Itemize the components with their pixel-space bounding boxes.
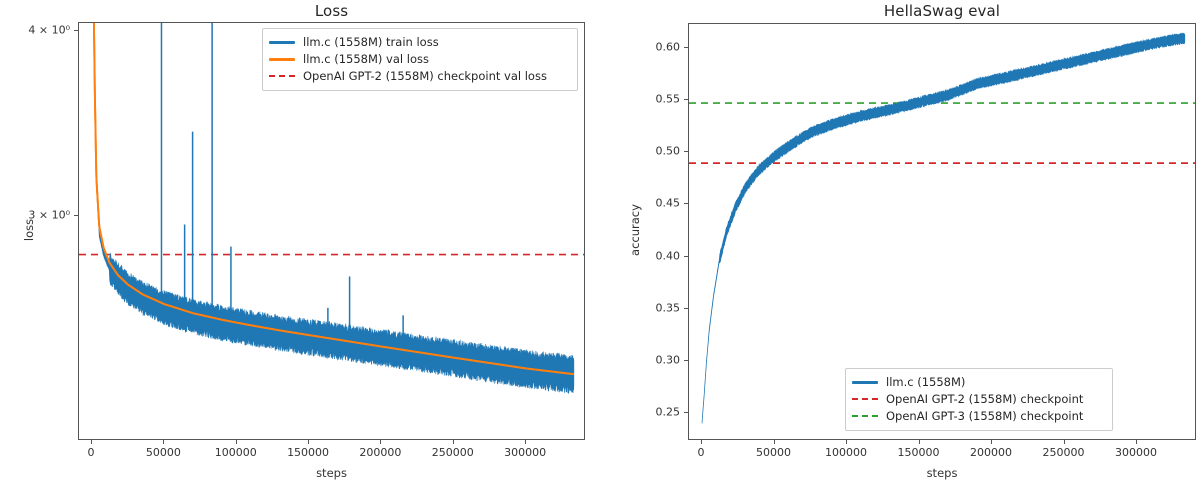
y-tick-label: 3 × 10⁰: [8, 208, 70, 221]
hellaswag-panel: HellaSwag eval accuracy steps 0500001000…: [600, 0, 1200, 488]
x-tick-mark: [163, 440, 164, 444]
loss-x-axis-label: steps: [78, 466, 585, 480]
legend-label: llm.c (1558M) train loss: [303, 37, 439, 49]
x-tick-mark: [774, 440, 775, 444]
legend-dashed-line-icon: [269, 71, 295, 82]
y-tick-label: 0.50: [618, 145, 680, 158]
loss-panel: Loss loss steps 050000100000150000200000…: [0, 0, 600, 488]
y-tick-mark: [684, 308, 688, 309]
x-tick-label: 300000: [504, 446, 546, 459]
loss-plot-title: Loss: [78, 2, 585, 20]
x-tick-mark: [453, 440, 454, 444]
legend-dashed-line-icon: [852, 394, 878, 405]
legend-label: llm.c (1558M): [886, 377, 965, 389]
x-tick-mark: [380, 440, 381, 444]
x-tick-label: 200000: [970, 446, 1012, 459]
x-tick-mark: [525, 440, 526, 444]
matplotlib-figure: Loss loss steps 050000100000150000200000…: [0, 0, 1200, 488]
y-tick-mark: [684, 360, 688, 361]
legend-entry: OpenAI GPT-2 (1558M) checkpoint: [852, 391, 1104, 408]
y-tick-label: 0.60: [618, 40, 680, 53]
series-noise-band: [702, 33, 1185, 423]
x-tick-label: 50000: [146, 446, 181, 459]
y-tick-mark: [684, 203, 688, 204]
x-tick-mark: [91, 440, 92, 444]
y-tick-label: 0.40: [618, 249, 680, 262]
y-tick-label: 0.30: [618, 353, 680, 366]
legend-label: OpenAI GPT-3 (1558M) checkpoint: [886, 411, 1083, 423]
x-tick-label: 50000: [756, 446, 791, 459]
legend-entry: OpenAI GPT-2 (1558M) checkpoint val loss: [269, 68, 569, 85]
x-tick-mark: [701, 440, 702, 444]
x-tick-mark: [1136, 440, 1137, 444]
x-tick-label: 150000: [898, 446, 940, 459]
y-tick-label: 0.25: [618, 405, 680, 418]
x-tick-label: 100000: [215, 446, 257, 459]
x-tick-label: 200000: [359, 446, 401, 459]
y-tick-mark: [684, 412, 688, 413]
x-tick-label: 0: [88, 446, 95, 459]
legend-entry: OpenAI GPT-3 (1558M) checkpoint: [852, 408, 1104, 425]
x-tick-label: 250000: [432, 446, 474, 459]
y-tick-label: 0.55: [618, 93, 680, 106]
hellaswag-legend: llm.c (1558M)OpenAI GPT-2 (1558M) checkp…: [845, 368, 1113, 431]
x-tick-mark: [919, 440, 920, 444]
y-tick-mark: [684, 151, 688, 152]
y-tick-mark: [684, 47, 688, 48]
y-tick-mark: [684, 99, 688, 100]
legend-entry: llm.c (1558M) val loss: [269, 51, 569, 68]
legend-entry: llm.c (1558M) train loss: [269, 34, 569, 51]
legend-label: OpenAI GPT-2 (1558M) checkpoint val loss: [303, 71, 547, 83]
y-tick-label: 0.45: [618, 197, 680, 210]
legend-label: llm.c (1558M) val loss: [303, 54, 429, 66]
legend-solid-line-icon: [852, 377, 878, 388]
x-tick-label: 300000: [1115, 446, 1157, 459]
y-tick-mark: [684, 256, 688, 257]
legend-solid-line-icon: [269, 37, 295, 48]
x-tick-label: 100000: [825, 446, 867, 459]
hellaswag-plot-title: HellaSwag eval: [688, 2, 1196, 20]
legend-label: OpenAI GPT-2 (1558M) checkpoint: [886, 394, 1083, 406]
legend-solid-line-icon: [269, 54, 295, 65]
x-tick-mark: [308, 440, 309, 444]
x-tick-mark: [991, 440, 992, 444]
legend-dashed-line-icon: [852, 411, 878, 422]
loss-legend: llm.c (1558M) train lossllm.c (1558M) va…: [262, 28, 578, 91]
x-tick-label: 0: [698, 446, 705, 459]
x-tick-label: 150000: [287, 446, 329, 459]
x-tick-mark: [846, 440, 847, 444]
x-tick-mark: [236, 440, 237, 444]
y-tick-label: 4 × 10⁰: [8, 23, 70, 36]
x-tick-label: 250000: [1043, 446, 1085, 459]
x-tick-mark: [1064, 440, 1065, 444]
y-tick-mark: [74, 30, 78, 31]
y-tick-mark: [74, 215, 78, 216]
hellaswag-x-axis-label: steps: [688, 466, 1196, 480]
legend-entry: llm.c (1558M): [852, 374, 1104, 391]
y-tick-label: 0.35: [618, 301, 680, 314]
